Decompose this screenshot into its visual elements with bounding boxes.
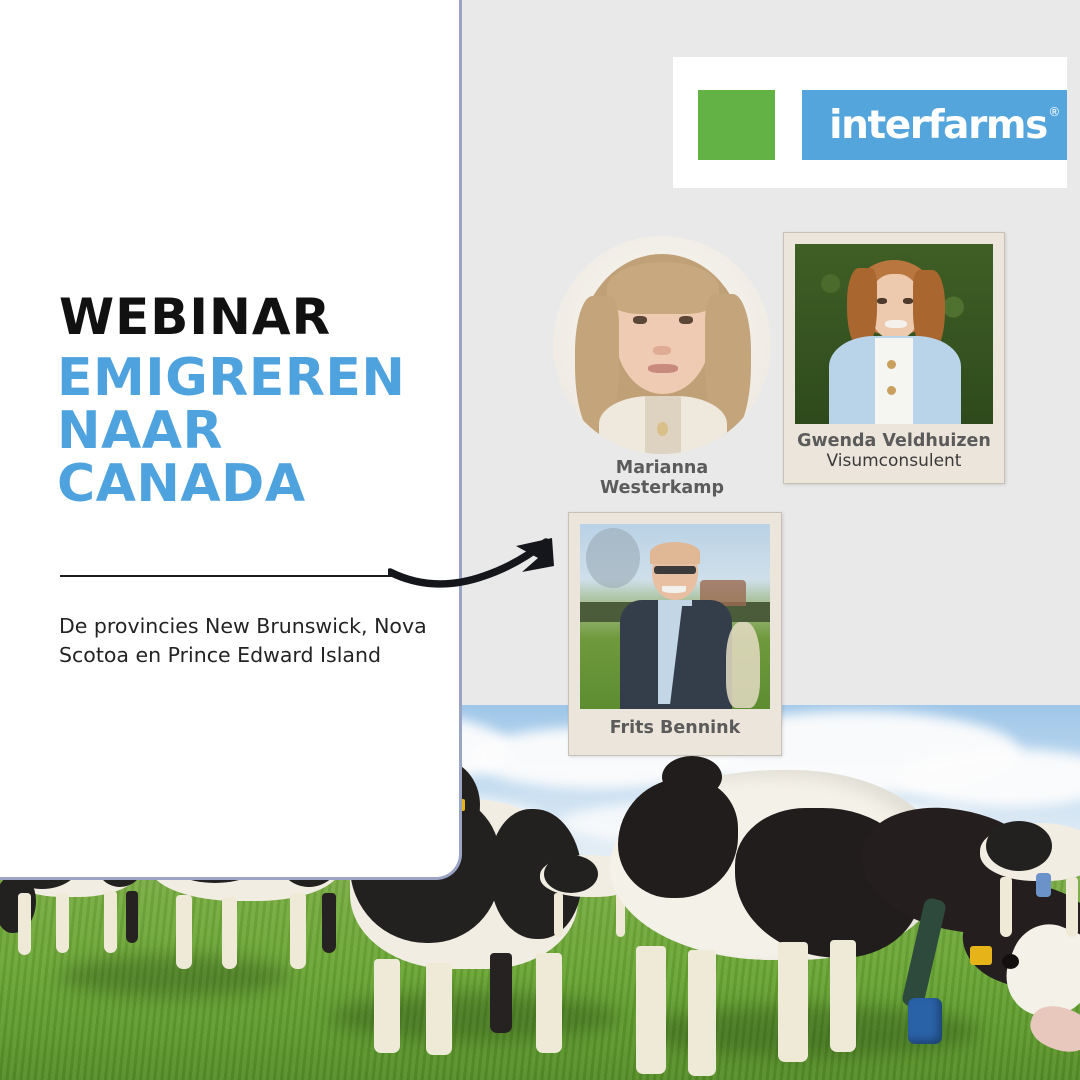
speaker-name: Marianna Westerkamp xyxy=(553,458,771,498)
brand-logo: interfarms® xyxy=(673,57,1067,188)
speaker-caption: Gwenda Veldhuizen Visumconsulent xyxy=(784,431,1004,472)
speaker-card-frits: Frits Bennink xyxy=(568,512,782,756)
curved-arrow-icon xyxy=(388,528,578,608)
headline-line-1: EMIGREREN xyxy=(57,352,457,405)
avatar xyxy=(553,236,771,454)
cow-collar-sensor xyxy=(908,998,942,1044)
headline-line-3: CANADA xyxy=(57,458,457,511)
speaker-caption: Frits Bennink xyxy=(569,718,781,738)
logo-green-square xyxy=(698,90,775,160)
registered-mark-icon: ® xyxy=(1048,105,1059,119)
logo-blue-bar: interfarms® xyxy=(802,90,1067,160)
webinar-poster: WEBINAR EMIGREREN NAAR CANADA De provinc… xyxy=(0,0,1080,1080)
portrait-photo xyxy=(580,524,770,709)
divider xyxy=(60,575,405,577)
cow xyxy=(980,823,1080,963)
logo-text: interfarms xyxy=(829,103,1047,148)
cow-shadow xyxy=(60,955,290,997)
portrait-photo xyxy=(795,244,993,424)
speaker-card-marianna: Marianna Westerkamp xyxy=(553,236,793,486)
speaker-role: Visumconsulent xyxy=(784,451,1004,471)
logo-wordmark: interfarms® xyxy=(829,103,1067,148)
speaker-name: Frits Bennink xyxy=(569,718,781,738)
kicker-label: WEBINAR xyxy=(59,292,331,342)
speaker-name: Gwenda Veldhuizen xyxy=(784,431,1004,451)
subtitle: De provincies New Brunswick, Nova Scotoa… xyxy=(59,612,449,670)
content-panel: WEBINAR EMIGREREN NAAR CANADA De provinc… xyxy=(0,0,462,880)
speaker-card-gwenda: Gwenda Veldhuizen Visumconsulent xyxy=(783,232,1005,484)
page-title: EMIGREREN NAAR CANADA xyxy=(57,352,457,511)
headline-line-2: NAAR xyxy=(57,405,457,458)
